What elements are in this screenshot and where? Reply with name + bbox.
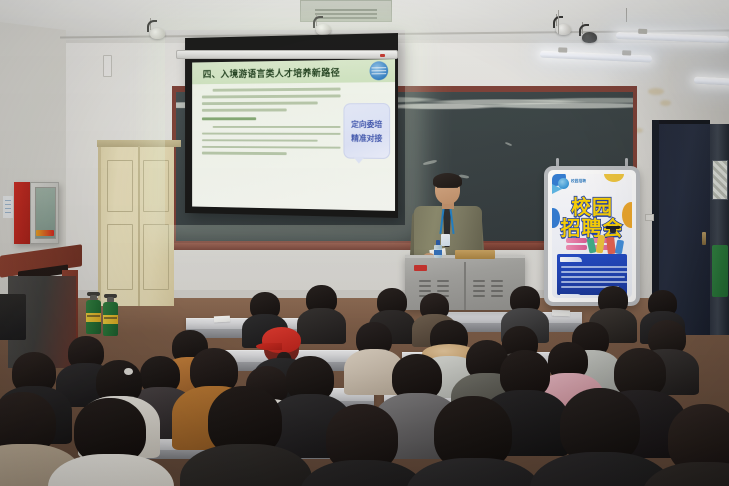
audience-member [392,354,442,401]
tan-folder [455,250,495,259]
callout-line-2: 精准对接 [344,133,389,144]
fire-hose-cabinet [14,182,59,244]
indicator-dot-icon [380,54,385,57]
audience-member [598,286,628,314]
poster-logo-icon [558,178,569,189]
audience-member [326,404,398,472]
callout-line-1: 定向委培 [344,119,389,130]
door-opening [710,124,729,335]
audience-member [420,293,449,320]
wall-mark [648,88,664,95]
door-handle-icon[interactable] [702,232,706,245]
slide-callout-bubble: 定向委培 精准对接 [343,103,390,159]
audience-member [430,320,468,355]
audience-member [648,290,677,317]
green-waste-bin [712,245,728,297]
cabinet-label [36,230,54,236]
audience-member [548,342,588,380]
audience-member [560,388,640,464]
slide-title: 四、入境游语言类人才培养新路径 [203,65,340,80]
id-badge [441,234,450,246]
water-bottle [434,240,442,258]
wall-notice [3,196,13,218]
audience-member [500,350,550,398]
podium-sticker [414,265,427,271]
audience-member [286,356,334,402]
audience-member [356,322,392,356]
light-suspension-wire [626,8,627,22]
fire-extinguisher [86,292,101,334]
glasses-icon [437,187,458,192]
wall-mark [660,100,671,106]
red-cap [262,327,301,353]
lecture-hall-photo: 四、入境游语言类人才培养新路径 [0,0,729,486]
audience-member [434,396,512,470]
light-switch[interactable] [645,214,654,221]
audience-member [250,292,280,320]
door-window [712,160,728,200]
paper-sheet [552,310,570,317]
audience-member [140,356,180,394]
hair-tie [124,368,133,375]
monitor-icon [0,294,26,340]
audience-member [74,398,146,464]
audience-member [0,392,56,454]
audience-member [306,285,337,314]
cream-double-door [98,146,174,306]
audience-member [208,386,282,456]
slide-body-text [202,88,341,160]
audience-member [377,288,407,316]
audience-member [668,404,729,474]
light-suspension-wire [558,10,559,34]
fire-extinguisher [103,294,118,336]
poster-figures [588,232,626,256]
audience-member [510,286,540,314]
audience-member [12,352,56,394]
poster-logo-text: 校园招聘 [571,179,586,184]
recruitment-poster: 校园招聘 校园 招聘会 [552,174,632,298]
presentation-slide: 四、入境游语言类人才培养新路径 [192,59,395,211]
conduit-junction-box [103,55,112,77]
poster-stand: 校园招聘 校园 招聘会 [544,166,640,306]
projection-screen: 四、入境游语言类人才培养新路径 [185,33,398,218]
paper-sheet [214,316,230,323]
screen-roller-housing [176,50,398,59]
